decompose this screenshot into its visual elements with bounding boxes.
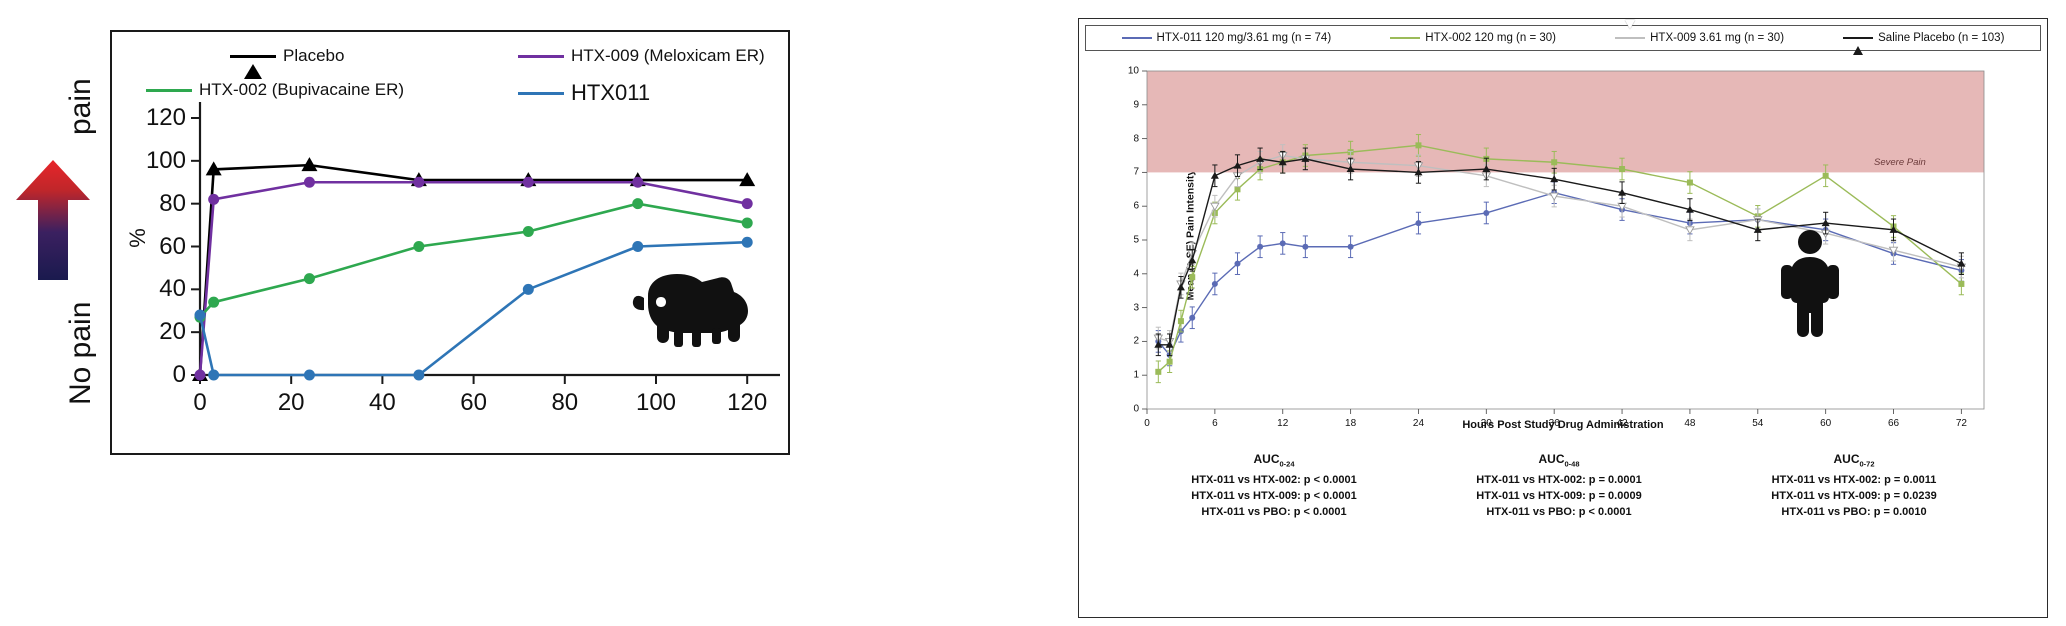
auc-title-1: AUC0-48 [1434,451,1684,470]
up-arrow-gradient-icon [16,160,90,280]
right-chart-plot [1079,19,2049,619]
auc-stat-line: HTX-011 vs HTX-002: p < 0.0001 [1149,473,1399,489]
auc-label-0: AUC [1253,452,1279,466]
auc-subscript-0: 0-24 [1279,459,1294,468]
auc-stat-line: HTX-011 vs HTX-009: p = 0.0009 [1434,489,1684,505]
auc-label-2: AUC [1833,452,1859,466]
auc-label-1: AUC [1538,452,1564,466]
auc-stat-line: HTX-011 vs PBO: p = 0.0010 [1729,505,1979,521]
auc-stat-line: HTX-011 vs HTX-002: p = 0.0011 [1729,473,1979,489]
auc-stats-group-0: AUC0-24 HTX-011 vs HTX-002: p < 0.0001 H… [1149,451,1399,521]
auc-subscript-1: 0-48 [1564,459,1579,468]
severe-pain-band-label: Severe Pain [1874,157,1926,168]
pig-silhouette-icon [630,262,760,348]
auc-stat-line: HTX-011 vs HTX-002: p = 0.0001 [1434,473,1684,489]
auc-stats-group-1: AUC0-48 HTX-011 vs HTX-002: p = 0.0001 H… [1434,451,1684,521]
auc-title-2: AUC0-72 [1729,451,1979,470]
pain-axis-bottom-label: No pain [64,302,98,405]
left-chart-panel: pain No pain Placebo HTX-009 (Meloxicam [0,0,800,626]
left-chart-plot [110,30,790,455]
auc-subscript-2: 0-72 [1859,459,1874,468]
right-chart-panel: HTX-011 120 mg/3.61 mg (n = 74) HTX-002 … [1078,18,2048,618]
person-silhouette-icon [1779,229,1841,339]
auc-stat-line: HTX-011 vs HTX-009: p = 0.0239 [1729,489,1979,505]
pain-axis-top-label: pain [64,78,98,135]
auc-stat-line: HTX-011 vs PBO: p < 0.0001 [1434,505,1684,521]
auc-stats-group-2: AUC0-72 HTX-011 vs HTX-002: p = 0.0011 H… [1729,451,1979,521]
auc-stat-line: HTX-011 vs PBO: p < 0.0001 [1149,505,1399,521]
auc-stat-line: HTX-011 vs HTX-009: p < 0.0001 [1149,489,1399,505]
auc-title-0: AUC0-24 [1149,451,1399,470]
